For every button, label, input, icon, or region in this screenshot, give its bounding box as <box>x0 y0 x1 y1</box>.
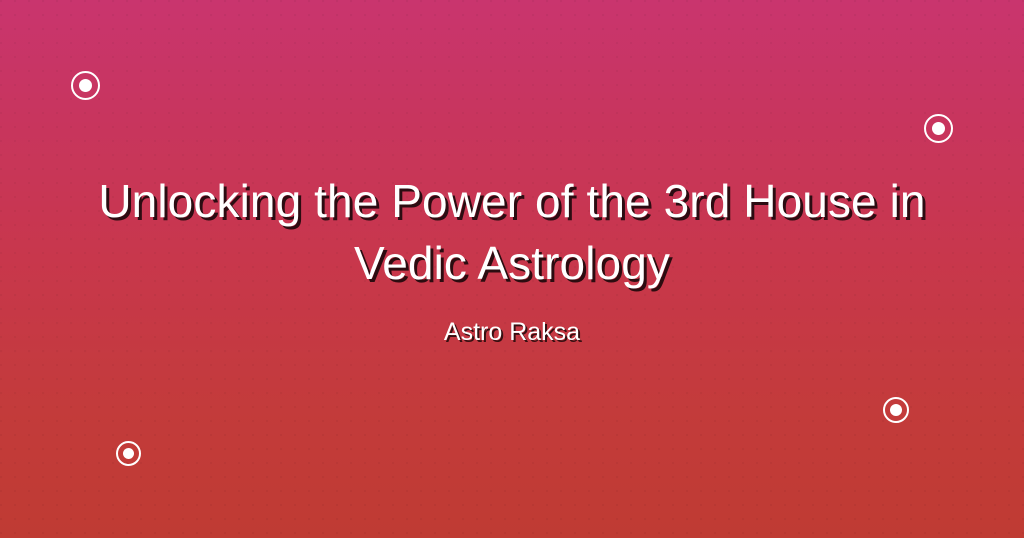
ring-dot-top-left-icon <box>71 71 100 100</box>
slide-subtitle: Astro Raksa <box>60 316 964 348</box>
ring-dot-inner-icon <box>890 404 902 416</box>
ring-dot-inner-icon <box>123 448 134 459</box>
ring-dot-inner-icon <box>932 122 945 135</box>
slide-title: Unlocking the Power of the 3rd House in … <box>60 170 964 294</box>
presentation-title-slide: Unlocking the Power of the 3rd House in … <box>0 0 1024 538</box>
ring-dot-bottom-left-icon <box>116 441 141 466</box>
ring-dot-inner-icon <box>79 79 92 92</box>
slide-text-block: Unlocking the Power of the 3rd House in … <box>0 170 1024 348</box>
ring-dot-bottom-right-icon <box>883 397 909 423</box>
ring-dot-top-right-icon <box>924 114 953 143</box>
